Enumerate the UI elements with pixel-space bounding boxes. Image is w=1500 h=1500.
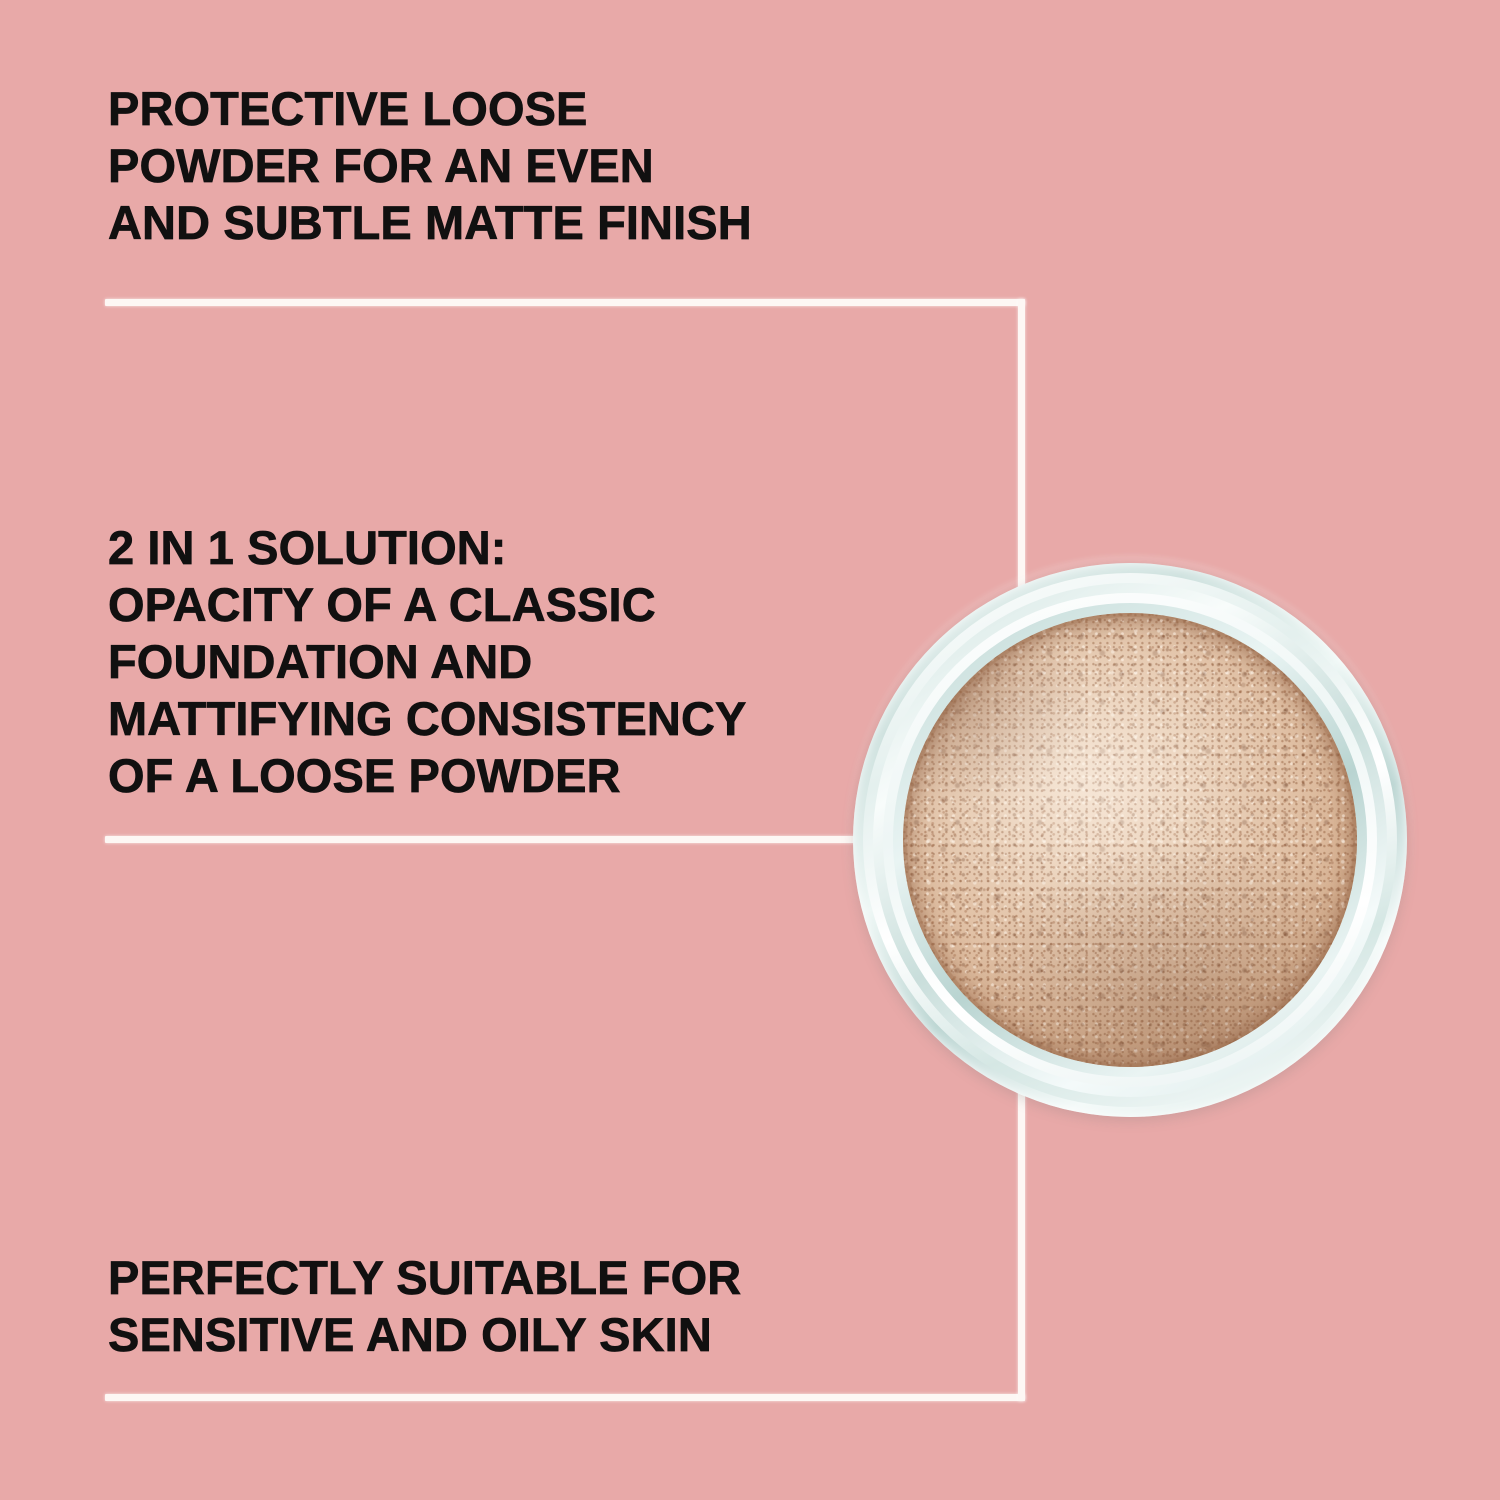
loose-powder-jar bbox=[853, 563, 1407, 1117]
skin-suitability-claim: PERFECTLY SUITABLE FOR SENSITIVE AND OIL… bbox=[108, 1249, 908, 1363]
powder-surface bbox=[903, 613, 1357, 1067]
rule-top-horizontal bbox=[105, 299, 1025, 306]
powder-inner-shadow bbox=[903, 613, 1357, 1067]
two-in-one-solution-claim: 2 IN 1 SOLUTION: OPACITY OF A CLASSIC FO… bbox=[108, 519, 928, 804]
protective-loose-powder-claim: PROTECTIVE LOOSE POWDER FOR AN EVEN AND … bbox=[108, 80, 908, 251]
product-feature-panel: PROTECTIVE LOOSE POWDER FOR AN EVEN AND … bbox=[0, 0, 1500, 1500]
rule-middle-horizontal bbox=[105, 836, 895, 843]
rule-bottom-horizontal bbox=[105, 1394, 1025, 1401]
